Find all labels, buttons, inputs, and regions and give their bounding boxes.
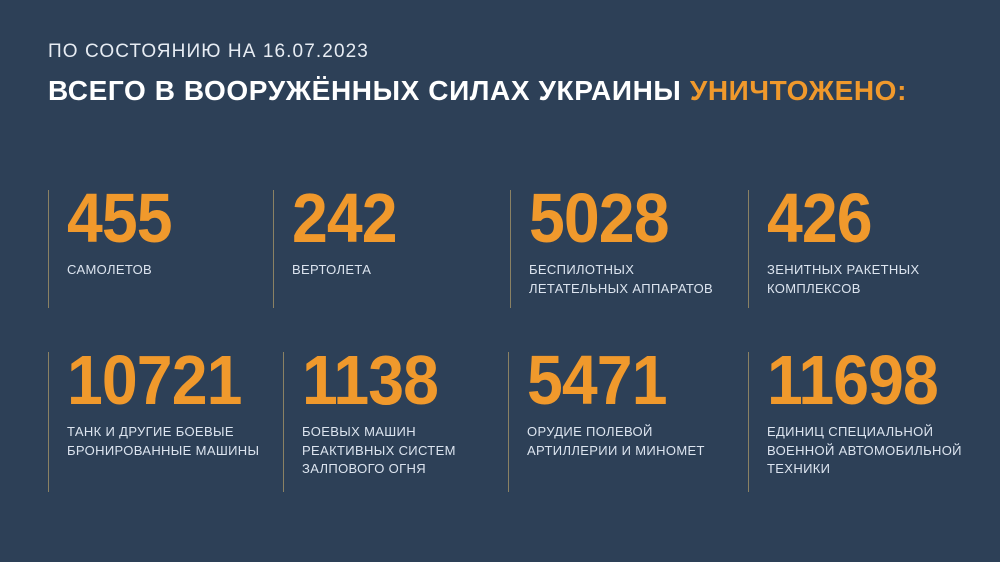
stat-value: 426 bbox=[767, 190, 961, 247]
stat-card: 1138 БОЕВЫХ МАШИН РЕАКТИВНЫХ СИСТЕМ ЗАЛП… bbox=[283, 352, 488, 492]
stat-card: 242 ВЕРТОЛЕТА bbox=[273, 190, 491, 308]
stat-card: 5471 ОРУДИЕ ПОЛЕВОЙ АРТИЛЛЕРИИ И МИНОМЕТ bbox=[508, 352, 728, 492]
headline-accent-text: УНИЧТОЖЕНО: bbox=[690, 75, 907, 106]
stat-card: 11698 ЕДИНИЦ СПЕЦИАЛЬНОЙ ВОЕННОЙ АВТОМОБ… bbox=[748, 352, 978, 492]
stats-row-2: 10721 ТАНК И ДРУГИЕ БОЕВЫЕ БРОНИРОВАННЫЕ… bbox=[0, 352, 1000, 492]
stat-label: САМОЛЕТОВ bbox=[67, 261, 253, 279]
stats-row-1: 455 САМОЛЕТОВ 242 ВЕРТОЛЕТА 5028 БЕСПИЛО… bbox=[0, 190, 1000, 308]
as-of-date: ПО СОСТОЯНИЮ НА 16.07.2023 bbox=[48, 42, 970, 63]
stat-value: 242 bbox=[292, 190, 475, 247]
stat-card: 426 ЗЕНИТНЫХ РАКЕТНЫХ КОМПЛЕКСОВ bbox=[748, 190, 978, 308]
stat-value: 11698 bbox=[767, 352, 961, 409]
stat-label: ТАНК И ДРУГИЕ БОЕВЫЕ БРОНИРОВАННЫЕ МАШИН… bbox=[67, 423, 263, 460]
page-title: ВСЕГО В ВООРУЖЁННЫХ СИЛАХ УКРАИНЫ УНИЧТО… bbox=[48, 75, 970, 106]
stat-label: ЗЕНИТНЫХ РАКЕТНЫХ КОМПЛЕКСОВ bbox=[767, 261, 978, 298]
stat-card: 455 САМОЛЕТОВ bbox=[48, 190, 253, 308]
headline-main-text: ВСЕГО В ВООРУЖЁННЫХ СИЛАХ УКРАИНЫ bbox=[48, 75, 690, 106]
stat-value: 5028 bbox=[529, 190, 714, 247]
stat-label: БОЕВЫХ МАШИН РЕАКТИВНЫХ СИСТЕМ ЗАЛПОВОГО… bbox=[302, 423, 488, 478]
stat-label: БЕСПИЛОТНЫХ ЛЕТАТЕЛЬНЫХ АППАРАТОВ bbox=[529, 261, 730, 298]
stat-label: ОРУДИЕ ПОЛЕВОЙ АРТИЛЛЕРИИ И МИНОМЕТ bbox=[527, 423, 728, 460]
header: ПО СОСТОЯНИЮ НА 16.07.2023 ВСЕГО В ВООРУ… bbox=[48, 42, 970, 106]
stat-value: 1138 bbox=[302, 352, 473, 409]
stat-card: 10721 ТАНК И ДРУГИЕ БОЕВЫЕ БРОНИРОВАННЫЕ… bbox=[48, 352, 263, 492]
stat-label: ЕДИНИЦ СПЕЦИАЛЬНОЙ ВОЕННОЙ АВТОМОБИЛЬНОЙ… bbox=[767, 423, 978, 478]
stat-value: 455 bbox=[67, 190, 238, 247]
stat-label: ВЕРТОЛЕТА bbox=[292, 261, 491, 279]
infographic-canvas: ПО СОСТОЯНИЮ НА 16.07.2023 ВСЕГО В ВООРУ… bbox=[0, 0, 1000, 562]
stat-value: 5471 bbox=[527, 352, 712, 409]
stat-value: 10721 bbox=[67, 352, 247, 409]
stat-card: 5028 БЕСПИЛОТНЫХ ЛЕТАТЕЛЬНЫХ АППАРАТОВ bbox=[510, 190, 730, 308]
